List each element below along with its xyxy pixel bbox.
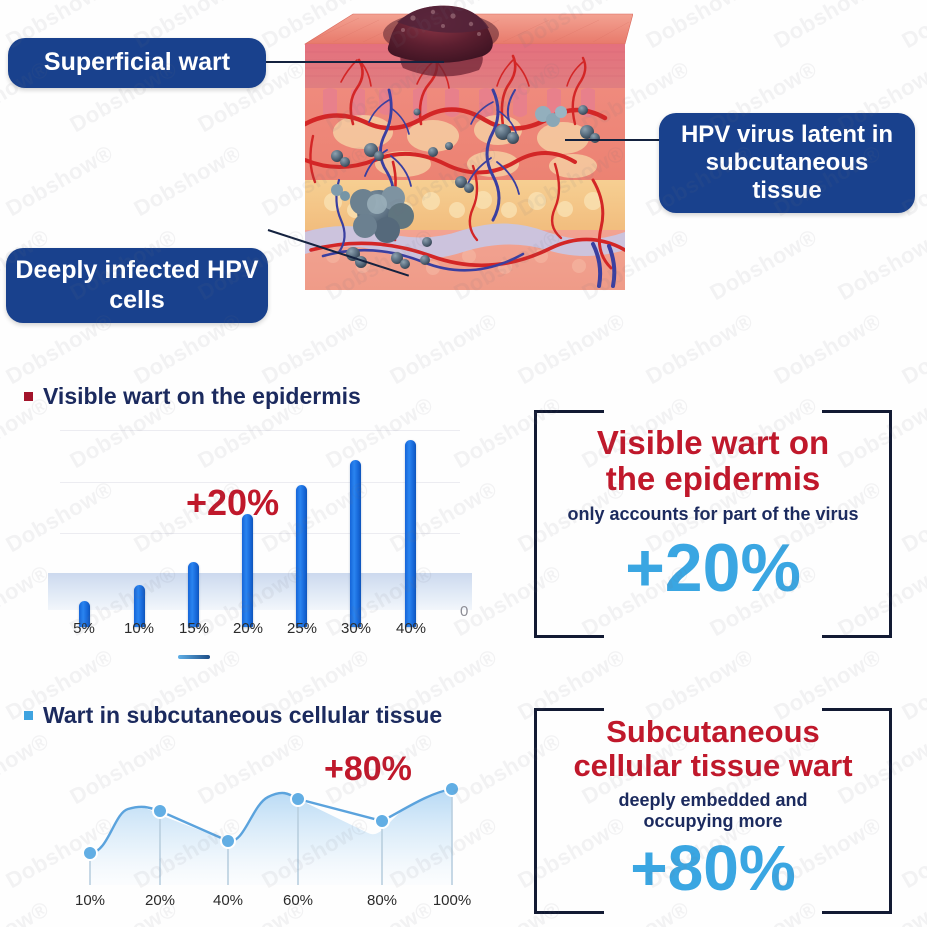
x-tick-label: 25%	[287, 620, 317, 637]
panel-visible-wart: Visible wart on the epidermis only accou…	[534, 410, 892, 638]
section-heading-epidermis: Visible wart on the epidermis	[24, 383, 361, 410]
skin-cross-section-diagram	[293, 4, 633, 309]
x-tick-label: 20%	[145, 892, 175, 909]
panel-subtitle: only accounts for part of the virus	[534, 504, 892, 524]
x-tick-label: 60%	[283, 892, 313, 909]
bar-40[interactable]	[405, 440, 416, 627]
axis-zero-label: 0	[460, 603, 468, 620]
section-heading-subcutaneous: Wart in subcutaneous cellular tissue	[24, 702, 442, 729]
panel-subcutaneous-wart: Subcutaneous cellular tissue wart deeply…	[534, 708, 892, 914]
panel-value: +20%	[534, 534, 892, 602]
x-tick-label: 10%	[124, 620, 154, 637]
panel-title-line1: Subcutaneous	[534, 716, 892, 749]
bracket-top-right	[822, 410, 892, 413]
panel-title-line2: cellular tissue wart	[534, 750, 892, 783]
bar-chart-epidermis: 5% 10% 15% 20% 25% 30% 40% 0	[48, 420, 478, 635]
data-point-100[interactable]	[445, 782, 459, 796]
section-heading-epidermis-label: Visible wart on the epidermis	[43, 383, 361, 410]
watermark-text: Dobshow®	[897, 812, 927, 894]
illustration-area: Superficial wart HPV virus latent in sub…	[0, 0, 927, 355]
watermark-text: Dobshow®	[0, 560, 54, 642]
panel-subtitle-line2: occupying more	[534, 811, 892, 831]
panel-title-line1: Visible wart on	[534, 426, 892, 461]
data-point-10[interactable]	[83, 846, 97, 860]
data-point-60[interactable]	[291, 792, 305, 806]
x-tick-label: 15%	[179, 620, 209, 637]
line-chart-callout-80: +80%	[324, 750, 412, 789]
x-tick-label: 5%	[73, 620, 95, 637]
panel-title-line2: the epidermis	[534, 462, 892, 497]
bracket-bottom-left	[534, 911, 604, 914]
panel-subtitle-line1: deeply embedded and	[534, 790, 892, 810]
bar-30[interactable]	[350, 460, 361, 627]
x-tick-label: 10%	[75, 892, 105, 909]
callout-superficial-wart[interactable]: Superficial wart	[8, 38, 266, 88]
bar-15[interactable]	[188, 562, 199, 627]
area-chart-subcutaneous: 10% 20% 40% 60% 80% 100%	[30, 745, 490, 925]
x-tick-label: 100%	[433, 892, 471, 909]
grid-line	[60, 533, 460, 534]
bar-chart-callout-20: +20%	[186, 482, 279, 524]
chart-legend-dash-icon	[178, 655, 210, 659]
area-fill	[90, 789, 452, 885]
x-tick-label: 30%	[341, 620, 371, 637]
bullet-square-icon	[24, 392, 33, 401]
x-tick-label: 80%	[367, 892, 397, 909]
grid-line	[60, 430, 460, 431]
bullet-square-icon	[24, 711, 33, 720]
bar-20[interactable]	[242, 514, 253, 627]
bracket-bottom-right	[822, 635, 892, 638]
bracket-bottom-right	[822, 911, 892, 914]
x-tick-label: 40%	[396, 620, 426, 637]
bracket-top-right	[822, 708, 892, 711]
section-heading-subcutaneous-label: Wart in subcutaneous cellular tissue	[43, 702, 442, 729]
bracket-top-left	[534, 410, 604, 413]
callout-deep-hpv-cells[interactable]: Deeply infected HPV cells	[6, 248, 268, 323]
data-point-80[interactable]	[375, 814, 389, 828]
callout-hpv-latent[interactable]: HPV virus latent in subcutaneous tissue	[659, 113, 915, 213]
x-tick-label: 20%	[233, 620, 263, 637]
bracket-top-left	[534, 708, 604, 711]
bar-25[interactable]	[296, 485, 307, 627]
data-point-20[interactable]	[153, 804, 167, 818]
panel-value: +80%	[534, 836, 892, 900]
watermark-text: Dobshow®	[897, 644, 927, 726]
leader-line-superficial	[266, 61, 444, 63]
data-point-40[interactable]	[221, 834, 235, 848]
bracket-bottom-left	[534, 635, 604, 638]
x-tick-label: 40%	[213, 892, 243, 909]
watermark-text: Dobshow®	[897, 476, 927, 558]
leader-line-hpv-latent	[565, 139, 661, 141]
